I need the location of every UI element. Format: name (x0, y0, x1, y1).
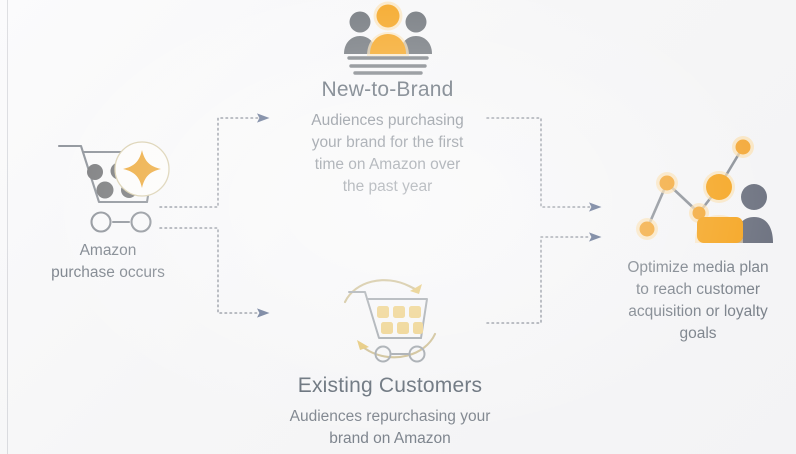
ntb-desc-line1: Audiences purchasing (255, 110, 520, 132)
node-new-to-brand-description: Audiences purchasing your brand for the … (255, 110, 520, 198)
group-of-people-icon (325, 0, 451, 78)
opt-desc-line3: acquisition or loyalty (600, 301, 796, 323)
node-existing-customers-description: Audiences repurchasing your brand on Ama… (250, 406, 530, 450)
node-new-to-brand-title: New-to-Brand (255, 78, 520, 102)
opt-desc-line1: Optimize media plan (600, 257, 796, 279)
node-optimize-description: Optimize media plan to reach customer ac… (600, 257, 796, 345)
node-purchase-label-line1: Amazon (8, 240, 208, 262)
icon-wrap-optimize (600, 125, 796, 247)
ec-desc-line1: Audiences repurchasing your (250, 406, 530, 428)
ntb-desc-line4: the past year (255, 176, 520, 198)
line-chart-with-people-icon (623, 125, 773, 247)
ntb-desc-line2: your brand for the first (255, 132, 520, 154)
shopping-cart-with-sparkle-icon (43, 130, 173, 240)
node-existing-customers-title: Existing Customers (250, 374, 530, 398)
diagram-canvas: Amazon purchase occurs (0, 0, 796, 454)
repurchase-cart-icon (327, 272, 453, 368)
icon-wrap-new-to-brand (255, 0, 520, 78)
node-amazon-purchase: Amazon purchase occurs (8, 130, 208, 285)
opt-desc-line2: to reach customer (600, 279, 796, 301)
node-existing-customers: Existing Customers Audiences repurchasin… (250, 272, 530, 450)
icon-wrap-purchase (8, 130, 208, 240)
ec-desc-line2: brand on Amazon (250, 428, 530, 450)
node-purchase-label-line2: purchase occurs (8, 262, 208, 284)
ntb-desc-line3: time on Amazon over (255, 154, 520, 176)
node-optimize-media-plan: Optimize media plan to reach customer ac… (600, 125, 796, 345)
node-new-to-brand: New-to-Brand Audiences purchasing your b… (255, 0, 520, 198)
icon-wrap-existing-customers (250, 272, 530, 368)
opt-desc-line4: goals (600, 323, 796, 345)
